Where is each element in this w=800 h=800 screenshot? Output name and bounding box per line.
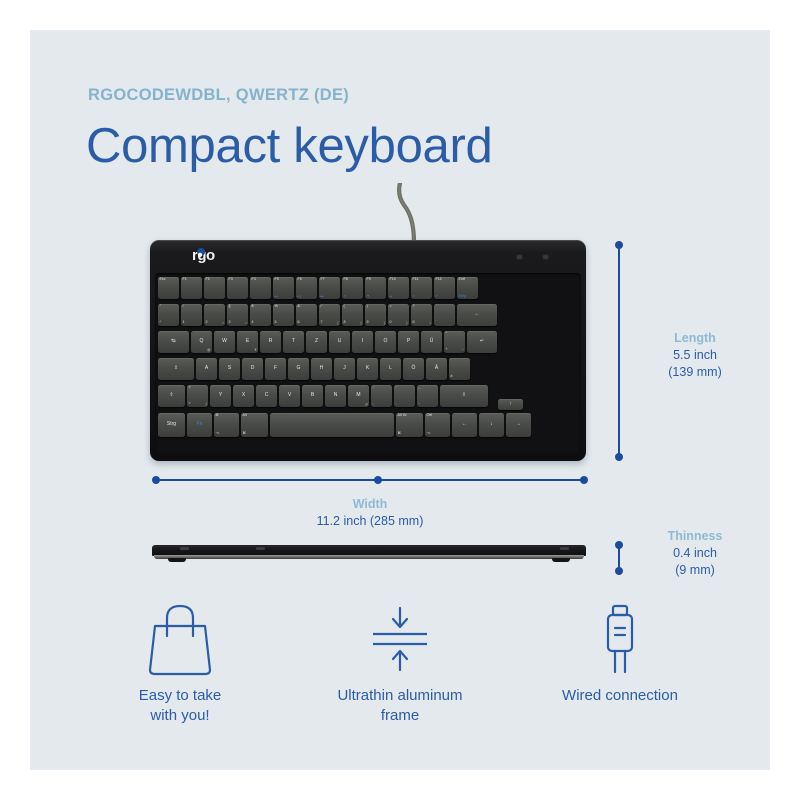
key-legend: ´ (436, 321, 437, 325)
key-j[interactable]: J (334, 358, 355, 380)
key-legend: P (407, 339, 410, 344)
key-legend: W (222, 339, 227, 344)
key-[interactable]: ?ß\ (411, 304, 432, 326)
key-area: EscF1F2F3F4F5◂◂F6▸❙F7▸▸F8✕F9▼F10▲F11☀F12… (155, 273, 581, 453)
keyboard-body: r•go EscF1F2F3F4F5◂◂F6▸❙F7▸▸F8✕F9▼F10▲F1… (150, 240, 586, 461)
key-legend: Y (219, 393, 222, 398)
key-legend: K (366, 366, 369, 371)
key-legend: J (343, 366, 346, 371)
key-legend: - (419, 402, 420, 406)
length-metric: (139 mm) (630, 364, 760, 381)
key-alt-legend: ~ (462, 349, 464, 352)
key-[interactable]: ← (457, 304, 497, 326)
key-legend: + (446, 348, 448, 352)
key-legend: ↓ (490, 422, 493, 427)
key-fn-legend: Einfg (459, 295, 466, 298)
key-alt-legend: € (255, 349, 257, 352)
key-[interactable]: ↹ (158, 331, 189, 353)
key-arrow-up[interactable]: ↑ (498, 399, 523, 410)
key-[interactable]: ↓ (479, 413, 504, 437)
key-shift-legend: = (390, 305, 392, 309)
side-foot-right (552, 558, 570, 562)
key-[interactable]: Ü (421, 331, 442, 353)
key-shift-legend: ⊞ (216, 414, 219, 418)
key-legend: Ü (430, 339, 434, 344)
thinness-label: Thinness 0.4 inch (9 mm) (630, 528, 760, 579)
key-[interactable]: ><| (187, 385, 208, 407)
key-legend: F11 (413, 278, 419, 282)
key-legend: G (297, 366, 301, 371)
key-shift-legend: " (206, 305, 207, 309)
key-legend: 9 (367, 321, 369, 325)
key-g[interactable]: G (288, 358, 309, 380)
key-shift-legend: / (321, 305, 322, 309)
key-legend: F8 (344, 278, 348, 282)
key-d[interactable]: D (242, 358, 263, 380)
key-[interactable]: °^ (158, 304, 179, 326)
key-legend: Ä (435, 366, 438, 371)
key-c[interactable]: C (256, 385, 277, 407)
key-legend: F6 (298, 278, 302, 282)
key-[interactable]: Ä (426, 358, 447, 380)
key-shift-legend: ° (160, 305, 161, 309)
key-i[interactable]: I (352, 331, 373, 353)
key-alt-legend: \ (430, 322, 431, 325)
key-legend: 2 (206, 321, 208, 325)
key-alt-legend: [ (361, 322, 362, 325)
thinness-imperial: 0.4 inch (630, 545, 760, 562)
key-legend: F1 (183, 278, 187, 282)
key-legend: U (338, 339, 342, 344)
feature-caption-line1: Wired connection (520, 686, 720, 706)
key-h[interactable]: H (311, 358, 332, 380)
key-b[interactable]: B (302, 385, 323, 407)
thinness-dot-bottom (615, 567, 623, 575)
key-shift-legend: % (275, 305, 278, 309)
key-legend: 5 (275, 321, 277, 325)
key-a[interactable]: A (196, 358, 217, 380)
length-title: Length (630, 330, 760, 347)
feature-caption: Easy to take with you! (80, 686, 280, 727)
key-m[interactable]: Mµ (348, 385, 369, 407)
side-foot-left (168, 558, 186, 562)
key-esc[interactable]: Esc (158, 277, 179, 299)
key-[interactable]: ↵ (467, 331, 497, 353)
key-shift-legend: & (298, 305, 300, 309)
key-legend: ↹ (171, 339, 175, 344)
side-notch-mid (256, 547, 265, 550)
key-legend: A (205, 366, 208, 371)
key-fn-legend: ☀ (413, 295, 416, 298)
key-f9[interactable]: F9▼ (365, 277, 386, 299)
key-[interactable]: !1 (181, 304, 202, 326)
key-[interactable]: :. (394, 385, 415, 407)
key-legend: ⌥ (216, 432, 220, 436)
key-shift-legend: ' (451, 359, 452, 363)
key-[interactable]: %5 (273, 304, 294, 326)
key-e[interactable]: E€ (237, 331, 258, 353)
key-alt-legend: µ (366, 403, 368, 406)
key-altgr[interactable]: Alt Gr⌘ (396, 413, 423, 437)
key-legend: Strg (167, 422, 176, 427)
key-[interactable]: ← (452, 413, 477, 437)
length-imperial: 5.5 inch (630, 347, 760, 364)
key-[interactable]: → (506, 413, 531, 437)
key-[interactable]: &6 (296, 304, 317, 326)
key-[interactable]: (8[ (342, 304, 363, 326)
key-f8[interactable]: F8✕ (342, 277, 363, 299)
key-legend: F (274, 366, 277, 371)
length-line (618, 245, 620, 457)
feature-caption-line1: Ultrathin aluminum (300, 686, 500, 706)
key-legend: F2 (206, 278, 210, 282)
infographic-page: RGOCODEWDBL, QWERTZ (DE) Compact keyboar… (0, 0, 800, 800)
key-legend: Esc (160, 278, 166, 282)
key-shift-legend: _ (419, 386, 421, 390)
thinness-metric: (9 mm) (630, 562, 760, 579)
key-shift-legend: ? (413, 305, 415, 309)
key-k[interactable]: K (357, 358, 378, 380)
key-shift-legend: Alt (243, 414, 247, 418)
key-shift-legend: : (396, 386, 397, 390)
key-legend: ⌘ (243, 432, 247, 436)
key-legend: F9 (367, 278, 371, 282)
key-alt-legend: | (206, 403, 207, 406)
key-shift-legend: § (229, 305, 231, 309)
key-legend: M (356, 393, 360, 398)
keyboard-function-row: EscF1F2F3F4F5◂◂F6▸❙F7▸▸F8✕F9▼F10▲F11☀F12… (158, 277, 478, 299)
key-[interactable]: '# (449, 358, 470, 380)
length-label: Length 5.5 inch (139 mm) (630, 330, 760, 381)
key-legend: ↑ (509, 402, 512, 407)
key-shift-legend: ; (373, 386, 374, 390)
key-key[interactable] (270, 413, 394, 437)
key-shift-legend: Alt Gr (398, 414, 407, 418)
key-[interactable]: ;, (371, 385, 392, 407)
key-alt-legend: ] (384, 322, 385, 325)
key-[interactable]: *+~ (444, 331, 465, 353)
key-l[interactable]: L (380, 358, 401, 380)
key-f4[interactable]: F4 (250, 277, 271, 299)
key-legend: Fn (197, 422, 203, 427)
keyboard-shift-row: ⇧><|YXCVBNMµ;,:._-⇧ (158, 385, 488, 407)
width-value: 11.2 inch (285 mm) (280, 513, 460, 530)
key-alt-legend: } (406, 322, 407, 325)
key-legend: Z (315, 339, 318, 344)
key-legend: ⌘ (398, 432, 402, 436)
key-legend: R (269, 339, 273, 344)
key-f5[interactable]: F5◂◂ (273, 277, 294, 299)
key-[interactable]: §3³ (227, 304, 248, 326)
key-legend: ß (413, 321, 415, 325)
key-[interactable]: )9] (365, 304, 386, 326)
feature-caption-line1: Easy to take (80, 686, 280, 706)
key-legend: ⇧ (462, 393, 466, 398)
key-[interactable]: _- (417, 385, 438, 407)
key-t[interactable]: T (283, 331, 304, 353)
key-legend: 3 (229, 321, 231, 325)
key-f7[interactable]: F7▸▸ (319, 277, 340, 299)
key-legend: F10 (390, 278, 396, 282)
feature-caption-line2: with you! (80, 706, 280, 726)
key-legend: 8 (344, 321, 346, 325)
key-shift-legend: > (189, 386, 191, 390)
key-shift-legend: ` (436, 305, 437, 309)
keyboard-home-row: ⇪ASDFGHJKLÖÄ'# (158, 358, 470, 380)
key-legend: B (311, 393, 314, 398)
key-shift-legend: * (446, 332, 447, 336)
key-[interactable]: ⇧ (440, 385, 488, 407)
key-u[interactable]: U (329, 331, 350, 353)
feature-easy-to-take: Easy to take with you! (80, 600, 280, 727)
key-f1[interactable]: F1 (181, 277, 202, 299)
key-legend: → (516, 422, 521, 427)
rgo-logo: r•go (192, 248, 215, 263)
key-n[interactable]: N (325, 385, 346, 407)
key-r[interactable]: R (260, 331, 281, 353)
shopping-bag-icon (80, 600, 280, 678)
key-[interactable]: "2² (204, 304, 225, 326)
key-ctrl[interactable]: Ctrl⌥ (425, 413, 450, 437)
key-legend: T (292, 339, 295, 344)
key-legend: F3 (229, 278, 233, 282)
key-legend: S (228, 366, 231, 371)
key-y[interactable]: Y (210, 385, 231, 407)
key-[interactable]: /7{ (319, 304, 340, 326)
key-legend: # (451, 375, 453, 379)
width-dot-right (580, 476, 588, 484)
key-z[interactable]: Z (306, 331, 327, 353)
key-shift-legend: ) (367, 305, 368, 309)
key-legend: F7 (321, 278, 325, 282)
key-legend: C (265, 393, 269, 398)
key-shift-legend: ! (183, 305, 184, 309)
key-legend: F5 (275, 278, 279, 282)
key-fn-legend: ▸▸ (321, 295, 324, 298)
key-shift-legend: $ (252, 305, 254, 309)
key-p[interactable]: P (398, 331, 419, 353)
thinness-arrows-icon (300, 600, 500, 678)
width-label: Width 11.2 inch (285 mm) (280, 496, 460, 530)
key-legend: O (384, 339, 388, 344)
key-f12[interactable]: F12☀ (434, 277, 455, 299)
side-notch-right (560, 547, 569, 550)
key-alt-legend: ³ (245, 322, 246, 325)
width-line (156, 479, 584, 481)
key-[interactable]: `´ (434, 304, 455, 326)
key-fn-legend: ▲ (390, 295, 393, 298)
key-legend: H (320, 366, 324, 371)
key-[interactable]: $4 (250, 304, 271, 326)
key-legend: Entf (459, 278, 465, 282)
key-legend: L (389, 366, 392, 371)
key-fn-legend: ◂◂ (275, 295, 278, 298)
key-alt-legend: ² (222, 322, 223, 325)
key-legend: ← (475, 312, 480, 317)
key-legend: ← (462, 422, 467, 427)
led-indicator-2 (542, 254, 549, 260)
key-entf[interactable]: EntfEinfg (457, 277, 478, 299)
key-strg[interactable]: Strg (158, 413, 185, 437)
key-w[interactable]: W (214, 331, 235, 353)
key-legend: . (396, 402, 397, 406)
key-legend: N (334, 393, 338, 398)
key-f2[interactable]: F2 (204, 277, 225, 299)
key-legend: , (373, 402, 374, 406)
key-legend: 7 (321, 321, 323, 325)
feature-ultrathin-frame: Ultrathin aluminum frame (300, 600, 500, 727)
key-legend: F4 (252, 278, 256, 282)
side-profile-view (152, 541, 586, 567)
key-fn-legend: ▼ (367, 295, 370, 298)
width-title: Width (280, 496, 460, 513)
feature-caption: Ultrathin aluminum frame (300, 686, 500, 727)
key-f6[interactable]: F6▸❙ (296, 277, 317, 299)
side-profile-aluminum-edge (154, 555, 584, 559)
key-legend: ⇧ (169, 393, 173, 398)
key-f10[interactable]: F10▲ (388, 277, 409, 299)
key-[interactable]: Ö (403, 358, 424, 380)
key-legend: ↵ (480, 339, 484, 344)
length-dot-bottom (615, 453, 623, 461)
key-legend: ⇪ (174, 366, 178, 371)
key-legend: Q (200, 339, 204, 344)
usb-plug-icon (520, 600, 720, 678)
key-legend: D (251, 366, 255, 371)
key-fn-legend: ✕ (344, 295, 347, 298)
key-legend: 6 (298, 321, 300, 325)
usb-cable (392, 183, 436, 243)
key-legend: V (288, 393, 291, 398)
key-fn-legend: ☀ (436, 295, 439, 298)
key-alt-legend: { (337, 322, 338, 325)
key-[interactable]: ⊞⌥ (214, 413, 239, 437)
keyboard-qwertz-row: ↹Q@WE€RTZUIOPÜ*+~↵ (158, 331, 497, 353)
key-legend: < (189, 402, 191, 406)
key-legend: F12 (436, 278, 442, 282)
led-indicator-1 (516, 254, 523, 260)
key-legend: 4 (252, 321, 254, 325)
key-legend: X (242, 393, 245, 398)
key-[interactable]: ⇧ (158, 385, 185, 407)
key-f11[interactable]: F11☀ (411, 277, 432, 299)
feature-wired-connection: Wired connection (520, 600, 720, 706)
key-legend: 1 (183, 321, 185, 325)
key-fn[interactable]: Fn (187, 413, 212, 437)
key-q[interactable]: Q@ (191, 331, 212, 353)
key-legend: 0 (390, 321, 392, 325)
key-legend: I (362, 339, 363, 344)
key-v[interactable]: V (279, 385, 300, 407)
key-s[interactable]: S (219, 358, 240, 380)
keyboard-number-row: °^!1"2²§3³$4%5&6/7{(8[)9]=0}?ß\`´← (158, 304, 497, 326)
key-o[interactable]: O (375, 331, 396, 353)
key-legend: E (246, 339, 249, 344)
feature-caption-line2: frame (300, 706, 500, 726)
key-[interactable]: =0} (388, 304, 409, 326)
side-notch-left (180, 547, 189, 550)
key-shift-legend: ( (344, 305, 345, 309)
key-legend: Ö (412, 366, 416, 371)
key-f3[interactable]: F3 (227, 277, 248, 299)
key-alt-legend: @ (207, 349, 210, 352)
width-dot-mid (374, 476, 382, 484)
key-fn-legend: ▸❙ (298, 295, 302, 298)
key-legend: ⌥ (427, 432, 431, 436)
key-alt[interactable]: Alt⌘ (241, 413, 268, 437)
key-shift-legend: Ctrl (427, 414, 433, 418)
key-f[interactable]: F (265, 358, 286, 380)
key-x[interactable]: X (233, 385, 254, 407)
key-legend: ^ (160, 321, 162, 325)
keyboard-modifier-row: StrgFn⊞⌥Alt⌘Alt Gr⌘Ctrl⌥←↓→ (158, 413, 531, 437)
thinness-title: Thinness (630, 528, 760, 545)
feature-caption: Wired connection (520, 686, 720, 706)
indicator-leds (516, 254, 560, 262)
key-[interactable]: ⇪ (158, 358, 194, 380)
